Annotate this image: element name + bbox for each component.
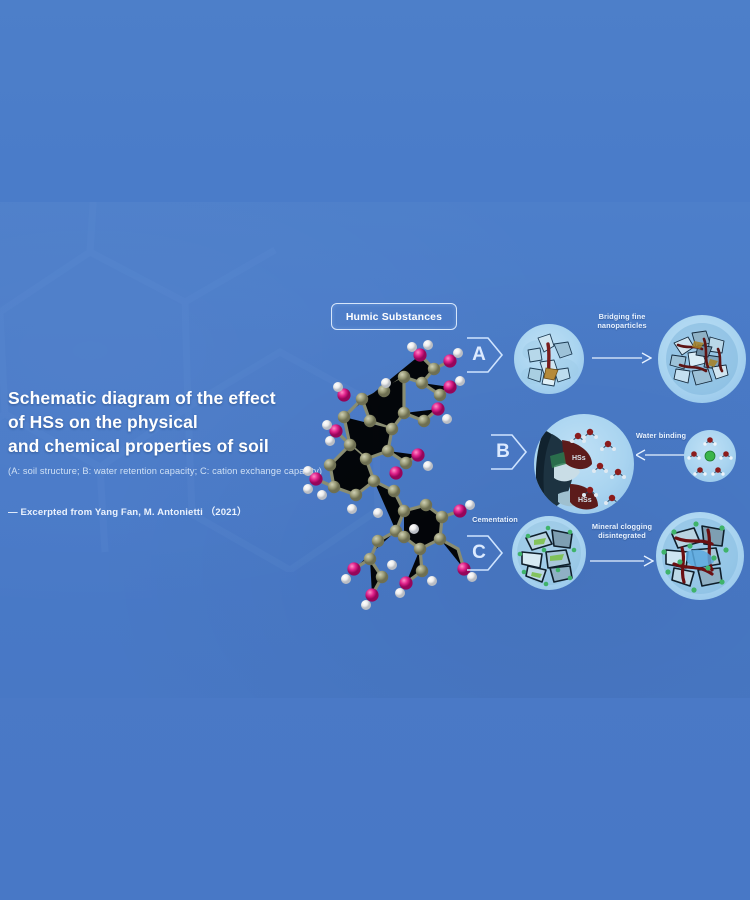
panel-B-flow-arrow [636,447,688,463]
page-title: Schematic diagram of the effect of HSs o… [8,386,338,458]
panel-C-circle-before [512,516,586,590]
panel-A-flow-arrow [592,350,652,366]
panel-B-circle: HSs HSs [534,414,634,514]
hs-tag-1: HSs [572,455,586,462]
hs-tag-2: HSs [578,497,592,504]
panel-marker-B-label: B [490,432,516,472]
caption-block: Schematic diagram of the effect of HSs o… [8,386,338,518]
panel-C-circle-after [656,512,744,600]
panel-C-arrow-caption: Mineral clogging disintegrated [580,522,664,541]
attribution-text: — Excerpted from Yang Fan, M. Antonietti… [8,504,338,518]
panel-marker-A-label: A [466,335,492,375]
panel-A-caption-line-1: Bridging fine [586,312,658,321]
panel-B-caption-line-1: Water binding [630,431,692,440]
panel-C-caption-line-2: disintegrated [580,531,664,540]
panel-B-arrow-caption: Water binding [630,431,692,440]
panel-marker-A: A [466,335,504,375]
panel-C-caption-line-1: Mineral clogging [580,522,664,531]
panel-C-pre-caption: Cementation [462,515,528,524]
humic-substance-molecule-model [300,325,480,615]
panel-B-circle-hydrated-cation [684,430,736,482]
panel-A-arrow-caption: Bridging fine nanoparticles [586,312,658,331]
title-line-1: Schematic diagram of the effect [8,386,338,410]
panel-A-circle-before [514,324,584,394]
title-line-3: and chemical properties of soil [8,434,338,458]
title-line-2: of HSs on the physical [8,410,338,434]
figure-canvas: Schematic diagram of the effect of HSs o… [0,0,750,900]
panel-marker-C: C [466,533,504,573]
panel-legend-subtitle: (A: soil structure; B: water retention c… [8,465,338,478]
panel-marker-B: B [490,432,528,472]
panel-A-caption-line-2: nanoparticles [586,321,658,330]
panel-A-circle-after [658,315,746,403]
banner-band: Schematic diagram of the effect of HSs o… [0,202,750,698]
panel-marker-C-label: C [466,533,492,573]
panel-C-flow-arrow [590,553,654,569]
